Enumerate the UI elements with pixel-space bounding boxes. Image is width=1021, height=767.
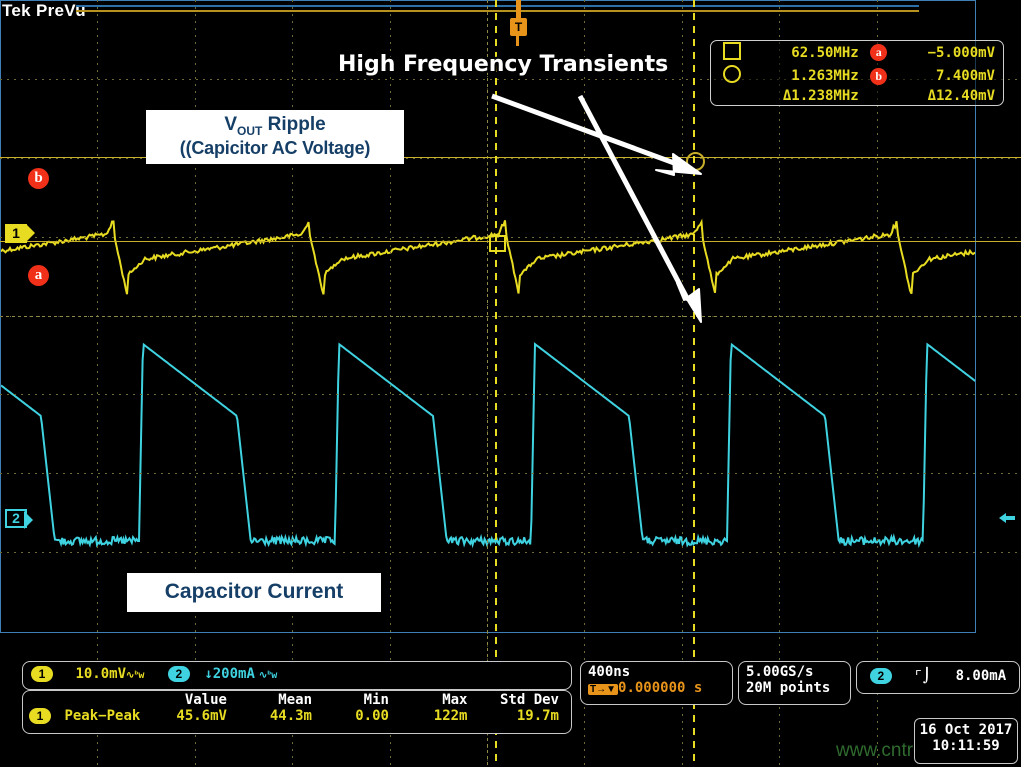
annotation-capacitor-current: Capacitor Current — [127, 573, 381, 612]
ch1-ground-marker[interactable]: 1 — [5, 224, 27, 243]
grid-horizontal — [0, 473, 976, 474]
annotation-vout-ripple: VOUT Ripple ((Capicitor AC Voltage) — [146, 110, 404, 164]
timebase-position-row: T→▼0.000000 s — [581, 680, 732, 696]
annotation-vout-line1: VOUT Ripple — [146, 114, 404, 138]
cursor-readout-row: 62.50MHz a −5.000mV — [711, 41, 1003, 64]
cursor-b-value: 7.400mV — [897, 64, 1003, 87]
ch1-badge-label: 1 — [12, 225, 20, 241]
cursor-a-value: −5.000mV — [897, 41, 1003, 64]
annotation-vout-line2: ((Capicitor AC Voltage) — [146, 138, 404, 158]
grid-horizontal — [0, 394, 976, 395]
measurement-std-dev: 19.7m — [473, 708, 571, 726]
vout-suffix: Ripple — [262, 114, 325, 135]
timebase-position: 0.000000 s — [618, 680, 702, 696]
timebase-scale: 400ns — [581, 662, 732, 680]
measurement-max: 122m — [395, 708, 474, 726]
cursor-badge-b[interactable]: b — [28, 168, 49, 189]
ch1-coupling-icon: ∿ᵇw — [126, 670, 143, 681]
trigger-tick — [516, 36, 519, 46]
col-std-dev: Std Dev — [473, 691, 571, 708]
trigger-position-icon: T→▼ — [588, 684, 618, 695]
oscilloscope-screen: Tek PreVu T b a 1 2 — [0, 0, 1021, 767]
record-length-bar — [76, 5, 919, 7]
annotation-high-frequency-transients: High Frequency Transients — [338, 52, 668, 77]
vout-prefix: V — [224, 114, 237, 135]
ch2-badge[interactable]: 2 — [168, 666, 190, 682]
ch1-scale[interactable]: 10.0mV — [75, 666, 126, 682]
date-label: 16 Oct 2017 — [915, 719, 1017, 738]
ch2-badge-label: 2 — [12, 510, 20, 526]
cursor-badge-a[interactable]: a — [28, 265, 49, 286]
measurement-mean: 44.3m — [233, 708, 318, 726]
ch2-coupling-icon: ∿ᵇw — [259, 670, 276, 681]
record-points: 20M points — [739, 680, 850, 696]
measurement-name: Peak−Peak — [64, 708, 140, 724]
cursor-a-frequency: 62.50MHz — [752, 41, 860, 64]
col-min: Min — [318, 691, 395, 708]
falling-edge-icon: ⌜⌡ — [914, 668, 931, 684]
ch2-trigger-level-arrow[interactable] — [998, 510, 1016, 526]
trigger-level: 8.00mA — [956, 668, 1007, 684]
trigger-marker-label: T — [510, 18, 527, 36]
brand-name: Tek — [2, 1, 31, 20]
ch2-waveform — [1, 344, 976, 545]
measurement-channel-badge: 1 — [29, 708, 51, 724]
annotation-arrows — [470, 80, 800, 330]
acquisition-panel[interactable]: 5.00GS/s 20M points — [738, 661, 851, 705]
square-cursor-icon — [723, 42, 741, 60]
measurement-row[interactable]: 1 Peak−Peak 45.6mV 44.3m 0.00 122m 19.7m — [23, 708, 571, 726]
col-name — [23, 691, 146, 708]
cursor-marker-a: a — [870, 44, 887, 61]
sample-rate: 5.00GS/s — [739, 662, 850, 680]
measurement-value: 45.6mV — [146, 708, 233, 726]
col-max: Max — [395, 691, 474, 708]
timebase-panel[interactable]: 400ns T→▼0.000000 s — [580, 661, 733, 705]
datetime-panel: 16 Oct 2017 10:11:59 — [914, 718, 1018, 764]
grid-horizontal — [0, 552, 976, 553]
trigger-position-marker[interactable]: T — [510, 0, 527, 36]
ch2-ground-marker[interactable]: 2 — [5, 509, 27, 528]
trigger-row: 2 ⌜⌡ 8.00mA — [857, 662, 1019, 684]
brand-logo: Tek PreVu — [2, 1, 86, 21]
measurements-panel: Value Mean Min Max Std Dev 1 Peak−Peak 4… — [22, 690, 572, 734]
col-mean: Mean — [233, 691, 318, 708]
ch2-scale[interactable]: ↓200mA — [204, 666, 255, 682]
trigger-panel[interactable]: 2 ⌜⌡ 8.00mA — [856, 661, 1020, 694]
cursor-delta-value: Δ12.40mV — [897, 88, 1003, 105]
vout-subscript: OUT — [237, 124, 262, 138]
channel-settings-row: 1 10.0mV∿ᵇw 2 ↓200mA∿ᵇw — [23, 662, 571, 682]
measurement-min: 0.00 — [318, 708, 395, 726]
cursor-marker-b: b — [870, 68, 887, 85]
ch1-badge[interactable]: 1 — [31, 666, 53, 682]
time-label: 10:11:59 — [915, 738, 1017, 754]
trigger-source-badge: 2 — [870, 668, 892, 684]
measurements-header-row: Value Mean Min Max Std Dev — [23, 691, 571, 708]
record-window-bar — [76, 10, 919, 12]
col-value: Value — [146, 691, 233, 708]
channel-settings-panel: 1 10.0mV∿ᵇw 2 ↓200mA∿ᵇw — [22, 661, 572, 690]
